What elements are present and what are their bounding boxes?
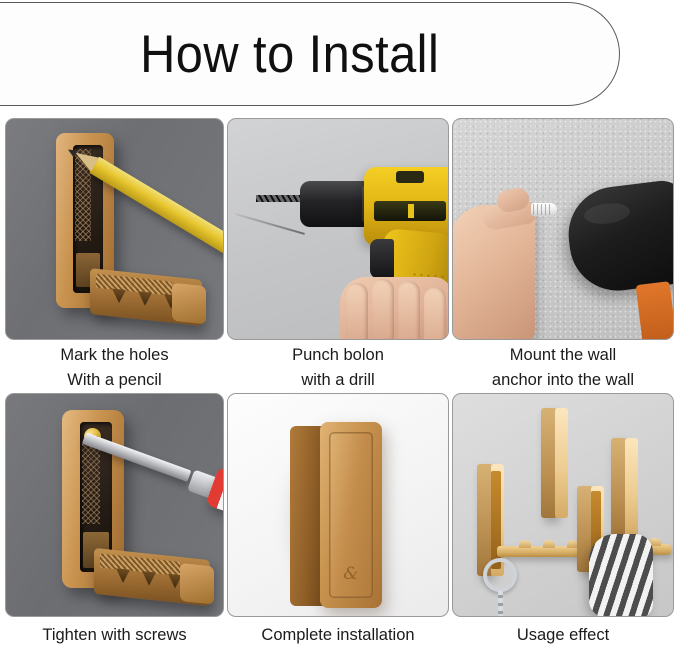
hook-front-face bbox=[625, 438, 638, 538]
wall-mark bbox=[235, 213, 305, 235]
step-3-caption-line2: anchor into the wall bbox=[452, 368, 674, 393]
hook-notch bbox=[116, 568, 130, 583]
step-card-2: Punch bolon with a drill bbox=[227, 118, 449, 393]
step-card-6: Usage effect bbox=[452, 393, 674, 648]
key-chain bbox=[498, 590, 503, 617]
wall-anchor-icon bbox=[531, 203, 557, 216]
step-4-image bbox=[5, 393, 224, 617]
step-1-caption-line1: Mark the holes bbox=[5, 343, 224, 368]
brand-logo-icon: & bbox=[343, 564, 358, 584]
hook-end-cap bbox=[172, 283, 206, 325]
step-1-image bbox=[5, 118, 224, 340]
page-title: How to Install bbox=[140, 24, 465, 85]
step-5-image: & bbox=[227, 393, 449, 617]
step-6-caption-line1: Usage effect bbox=[452, 623, 674, 648]
step-5-caption-line1: Complete installation bbox=[227, 623, 449, 648]
step-card-4: Tighten with screws bbox=[5, 393, 224, 648]
hook-arm bbox=[90, 268, 202, 326]
step-4-caption: Tighten with screws bbox=[5, 617, 224, 648]
gold-hook-icon bbox=[611, 438, 638, 538]
step-2-image bbox=[227, 118, 449, 340]
hand-icon bbox=[340, 277, 449, 340]
step-2-caption-line1: Punch bolon bbox=[227, 343, 449, 368]
mallet-handle bbox=[636, 281, 674, 340]
keyring-icon bbox=[483, 558, 517, 592]
hook-notch bbox=[138, 291, 152, 306]
step-3-caption-line1: Mount the wall bbox=[452, 343, 674, 368]
how-to-install-infographic: How to Install bbox=[0, 0, 679, 659]
swing-bump bbox=[543, 540, 555, 548]
drill-top-slot bbox=[396, 171, 424, 183]
finger bbox=[398, 281, 420, 340]
finger bbox=[346, 283, 368, 340]
step-1-caption: Mark the holes With a pencil bbox=[5, 340, 224, 393]
step-3-image bbox=[452, 118, 674, 340]
finger bbox=[424, 287, 446, 340]
finger bbox=[372, 279, 394, 340]
step-4-caption-line1: Tighten with screws bbox=[5, 623, 224, 648]
step-card-3: Mount the wall anchor into the wall bbox=[452, 118, 674, 393]
hook-arm bbox=[94, 548, 210, 606]
step-card-1: Mark the holes With a pencil bbox=[5, 118, 224, 393]
hook-swing-arm bbox=[497, 546, 583, 557]
hook-notch bbox=[112, 288, 126, 303]
steps-grid: Mark the holes With a pencil bbox=[5, 118, 674, 648]
step-card-5: & Complete installation bbox=[227, 393, 449, 648]
drill-vent bbox=[374, 201, 446, 221]
step-2-caption-line2: with a drill bbox=[227, 368, 449, 393]
header-banner: How to Install bbox=[0, 2, 620, 106]
step-3-caption: Mount the wall anchor into the wall bbox=[452, 340, 674, 393]
step-1-caption-line2: With a pencil bbox=[5, 368, 224, 393]
hook-notch bbox=[142, 571, 156, 586]
gold-hook-icon bbox=[541, 408, 568, 518]
hook-end-cap bbox=[180, 563, 214, 605]
scarf-icon bbox=[589, 534, 653, 617]
cover-plate: & bbox=[329, 432, 373, 598]
closed-gold-hook-icon: & bbox=[320, 422, 382, 608]
mesh-texture bbox=[82, 440, 100, 524]
drill-trigger bbox=[370, 239, 394, 279]
hook-front-face bbox=[555, 408, 568, 518]
drill-chuck bbox=[300, 181, 374, 227]
step-5-caption: Complete installation bbox=[227, 617, 449, 648]
step-6-caption: Usage effect bbox=[452, 617, 674, 648]
swing-bump bbox=[519, 540, 531, 548]
step-6-image bbox=[452, 393, 674, 617]
step-2-caption: Punch bolon with a drill bbox=[227, 340, 449, 393]
